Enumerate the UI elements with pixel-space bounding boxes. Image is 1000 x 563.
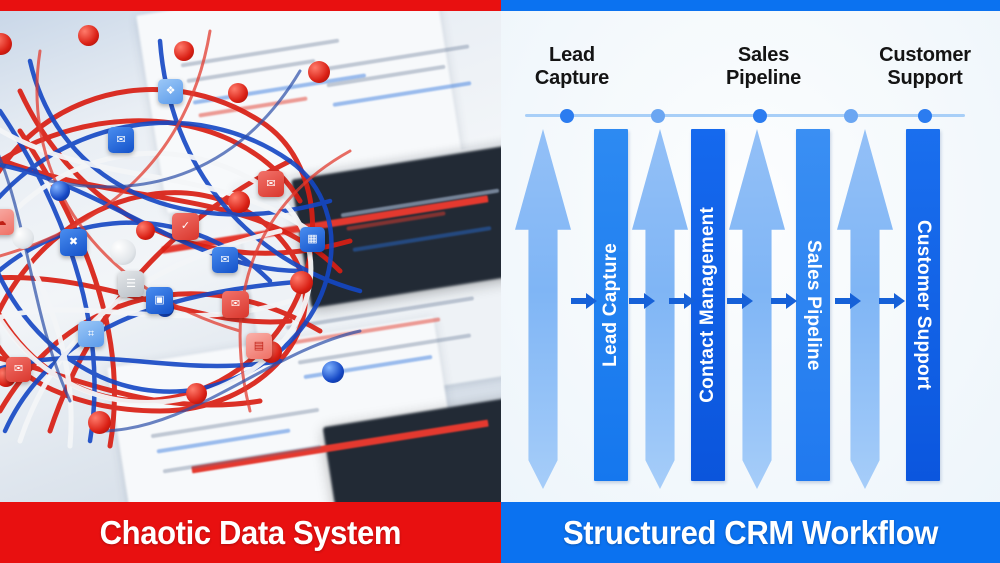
structured-workflow-panel: Lead Capture Sales Pipeline Customer Sup…: [501, 11, 1000, 502]
app-icon: ☰: [118, 271, 144, 297]
stage-arrow-3[interactable]: [729, 129, 785, 489]
connector-arrow: [879, 293, 905, 309]
step-label-line1: Lead: [517, 44, 627, 67]
stage-bar-label: Sales Pipeline: [802, 240, 824, 371]
top-accent-bar-left: [0, 0, 501, 11]
app-icon: ▤: [246, 333, 272, 359]
infographic-canvas: ✉ ✉ ❖ ✓ ✖ ☁ ☰ ✉ ▣ ✉ ⌗ ▤ PDF ✉ ▦ Lead Cap…: [0, 0, 1000, 563]
app-icon: ✉: [258, 171, 284, 197]
timeline-dot[interactable]: [651, 109, 665, 123]
step-label-line1: Sales: [706, 44, 821, 67]
timeline-dot[interactable]: [560, 109, 574, 123]
connector-arrow: [727, 293, 753, 309]
connector-arrow: [771, 293, 797, 309]
stage-bar-label: Lead Capture: [600, 243, 622, 367]
stage-arrow-1[interactable]: [515, 129, 571, 489]
timeline-dot[interactable]: [918, 109, 932, 123]
stage-bar-contact-management[interactable]: Contact Management: [691, 129, 725, 481]
app-icon: ▦: [300, 227, 325, 252]
connector-arrow: [835, 293, 861, 309]
app-icon: ✉: [108, 127, 134, 153]
app-icon: ⌗: [78, 321, 104, 347]
step-label-line2: Pipeline: [706, 67, 821, 90]
app-icon: ✉: [222, 291, 249, 318]
connector-arrow: [669, 293, 695, 309]
tangled-wire-ball: ✉ ✉ ❖ ✓ ✖ ☁ ☰ ✉ ▣ ✉ ⌗ ▤ PDF ✉ ▦: [0, 31, 380, 451]
step-label-customer-support: Customer Support: [861, 44, 989, 90]
app-icon: ✓: [172, 213, 199, 240]
stage-bar-customer-support[interactable]: Customer Support: [906, 129, 940, 481]
app-icon: ☁: [0, 209, 14, 235]
app-icon: ✖: [60, 229, 87, 256]
stage-bar-label: Customer Support: [912, 220, 934, 390]
stage-arrow-2b[interactable]: [632, 129, 688, 489]
app-icon: ✉: [212, 247, 238, 273]
timeline-dot[interactable]: [753, 109, 767, 123]
app-icon: ✉: [6, 357, 31, 382]
app-icon: ▣: [146, 287, 173, 314]
workflow-timeline: [525, 114, 965, 117]
step-label-sales-pipeline: Sales Pipeline: [706, 44, 821, 90]
step-label-line1: Customer: [861, 44, 989, 67]
chaotic-data-panel: ✉ ✉ ❖ ✓ ✖ ☁ ☰ ✉ ▣ ✉ ⌗ ▤ PDF ✉ ▦: [0, 11, 501, 502]
caption-text: Chaotic Data System: [100, 514, 401, 552]
stage-bar-label: Contact Management: [697, 207, 719, 403]
timeline-dot[interactable]: [844, 109, 858, 123]
step-label-lead-capture: Lead Capture: [517, 44, 627, 90]
app-icon: ❖: [158, 79, 183, 104]
top-accent-bar-right: [501, 0, 1000, 11]
caption-chaotic-data-system: Chaotic Data System: [0, 502, 501, 563]
caption-structured-crm-workflow: Structured CRM Workflow: [501, 502, 1000, 563]
stage-bar-sales-pipeline[interactable]: Sales Pipeline: [796, 129, 830, 481]
stage-bar-lead-capture[interactable]: Lead Capture: [594, 129, 628, 481]
connector-arrow: [571, 293, 597, 309]
stage-arrow-4[interactable]: [837, 129, 893, 489]
step-label-line2: Support: [861, 67, 989, 90]
connector-arrow: [629, 293, 655, 309]
step-label-line2: Capture: [517, 67, 627, 90]
caption-text: Structured CRM Workflow: [563, 514, 938, 552]
